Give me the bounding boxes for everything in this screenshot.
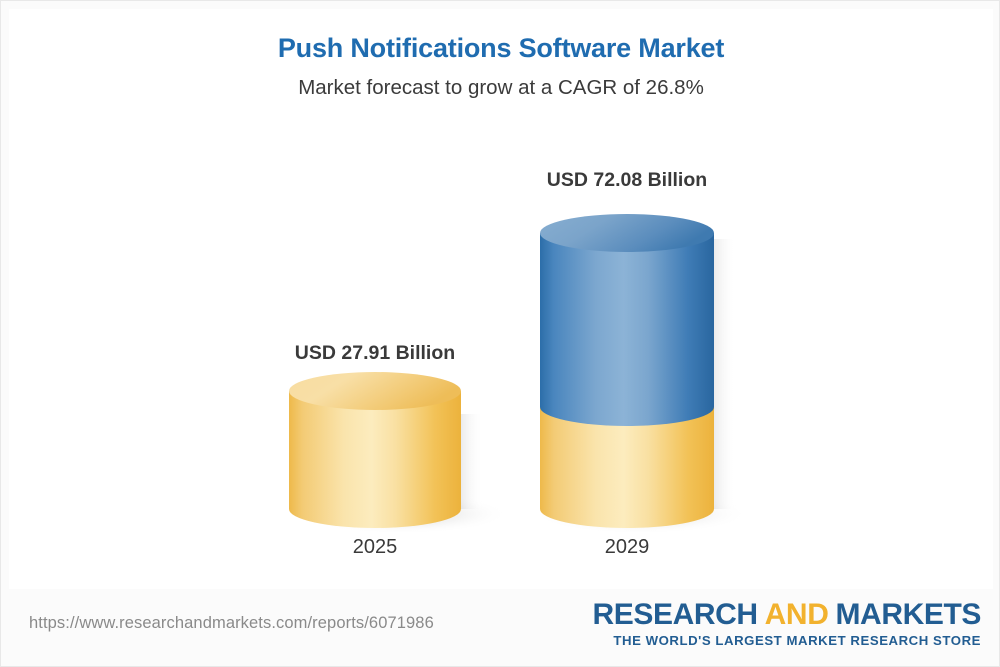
logo-word-research: RESEARCH <box>593 598 758 631</box>
chart-plot-area: USD 27.91 Billion USD 72.08 Billion 2025… <box>9 9 993 589</box>
research-and-markets-logo[interactable]: RESEARCHANDMARKETS THE WORLD'S LARGEST M… <box>593 599 981 650</box>
logo-tagline: THE WORLD'S LARGEST MARKET RESEARCH STOR… <box>593 632 981 650</box>
value-label-2029: USD 72.08 Billion <box>517 169 737 192</box>
logo-word-and: AND <box>765 598 829 631</box>
cylinder-2029-cap <box>540 214 714 252</box>
cylinder-chart-svg <box>9 9 993 589</box>
logo-word-markets: MARKETS <box>835 598 981 631</box>
chart-canvas: Push Notifications Software Market Marke… <box>9 9 993 589</box>
cylinder-2025 <box>289 372 509 534</box>
source-url-link[interactable]: https://www.researchandmarkets.com/repor… <box>29 614 434 633</box>
cylinder-2025-cap <box>289 372 461 410</box>
category-label-2025: 2025 <box>295 536 455 559</box>
category-label-2029: 2029 <box>547 536 707 559</box>
chart-page: Push Notifications Software Market Marke… <box>0 0 1000 667</box>
cylinder-2025-body <box>289 391 461 528</box>
cylinder-2029-top-segment <box>540 233 714 426</box>
chart-footer: https://www.researchandmarkets.com/repor… <box>1 589 1000 667</box>
cylinder-2029 <box>533 214 749 534</box>
logo-wordmark: RESEARCHANDMARKETS <box>593 599 981 631</box>
value-label-2025: USD 27.91 Billion <box>265 342 485 365</box>
